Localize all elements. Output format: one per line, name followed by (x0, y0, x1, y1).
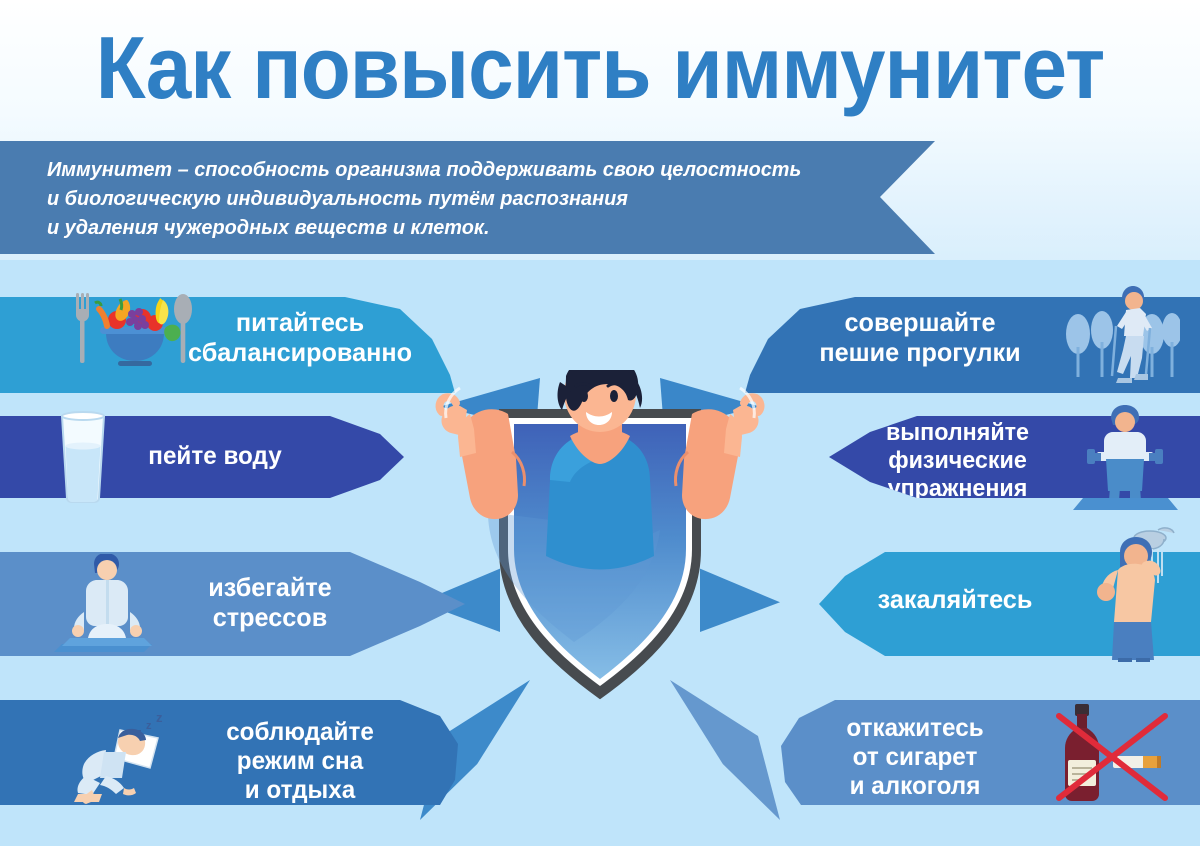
definition-banner: Иммунитет – способность организма поддер… (0, 141, 935, 254)
tip-label-hardening: закаляйтесь (829, 584, 1081, 614)
meditation-icon (52, 554, 162, 654)
page-title: Как повысить иммунитет (42, 10, 1158, 125)
nordic-walking-icon (1060, 282, 1180, 392)
svg-text:z: z (156, 710, 163, 725)
sleeping-person-icon: z z z (62, 704, 192, 804)
tip-label-exercise: выполняйте физические упражнения (829, 419, 1086, 502)
no-alcohol-no-smoking-icon (1041, 702, 1176, 807)
tip-label-walking: совершайте пешие прогулки (775, 307, 1066, 367)
definition-text: Иммунитет – способность организма поддер… (47, 155, 842, 242)
svg-text:z: z (146, 720, 152, 732)
cold-shower-icon (1062, 522, 1182, 662)
tip-label-no-smoking-alcohol: откажитесь от сигарет и алкоголя (784, 714, 1046, 801)
strong-man-with-shield-illustration (400, 370, 800, 740)
water-glass-icon (48, 410, 118, 505)
dumbbell-exercise-icon (1073, 402, 1178, 517)
